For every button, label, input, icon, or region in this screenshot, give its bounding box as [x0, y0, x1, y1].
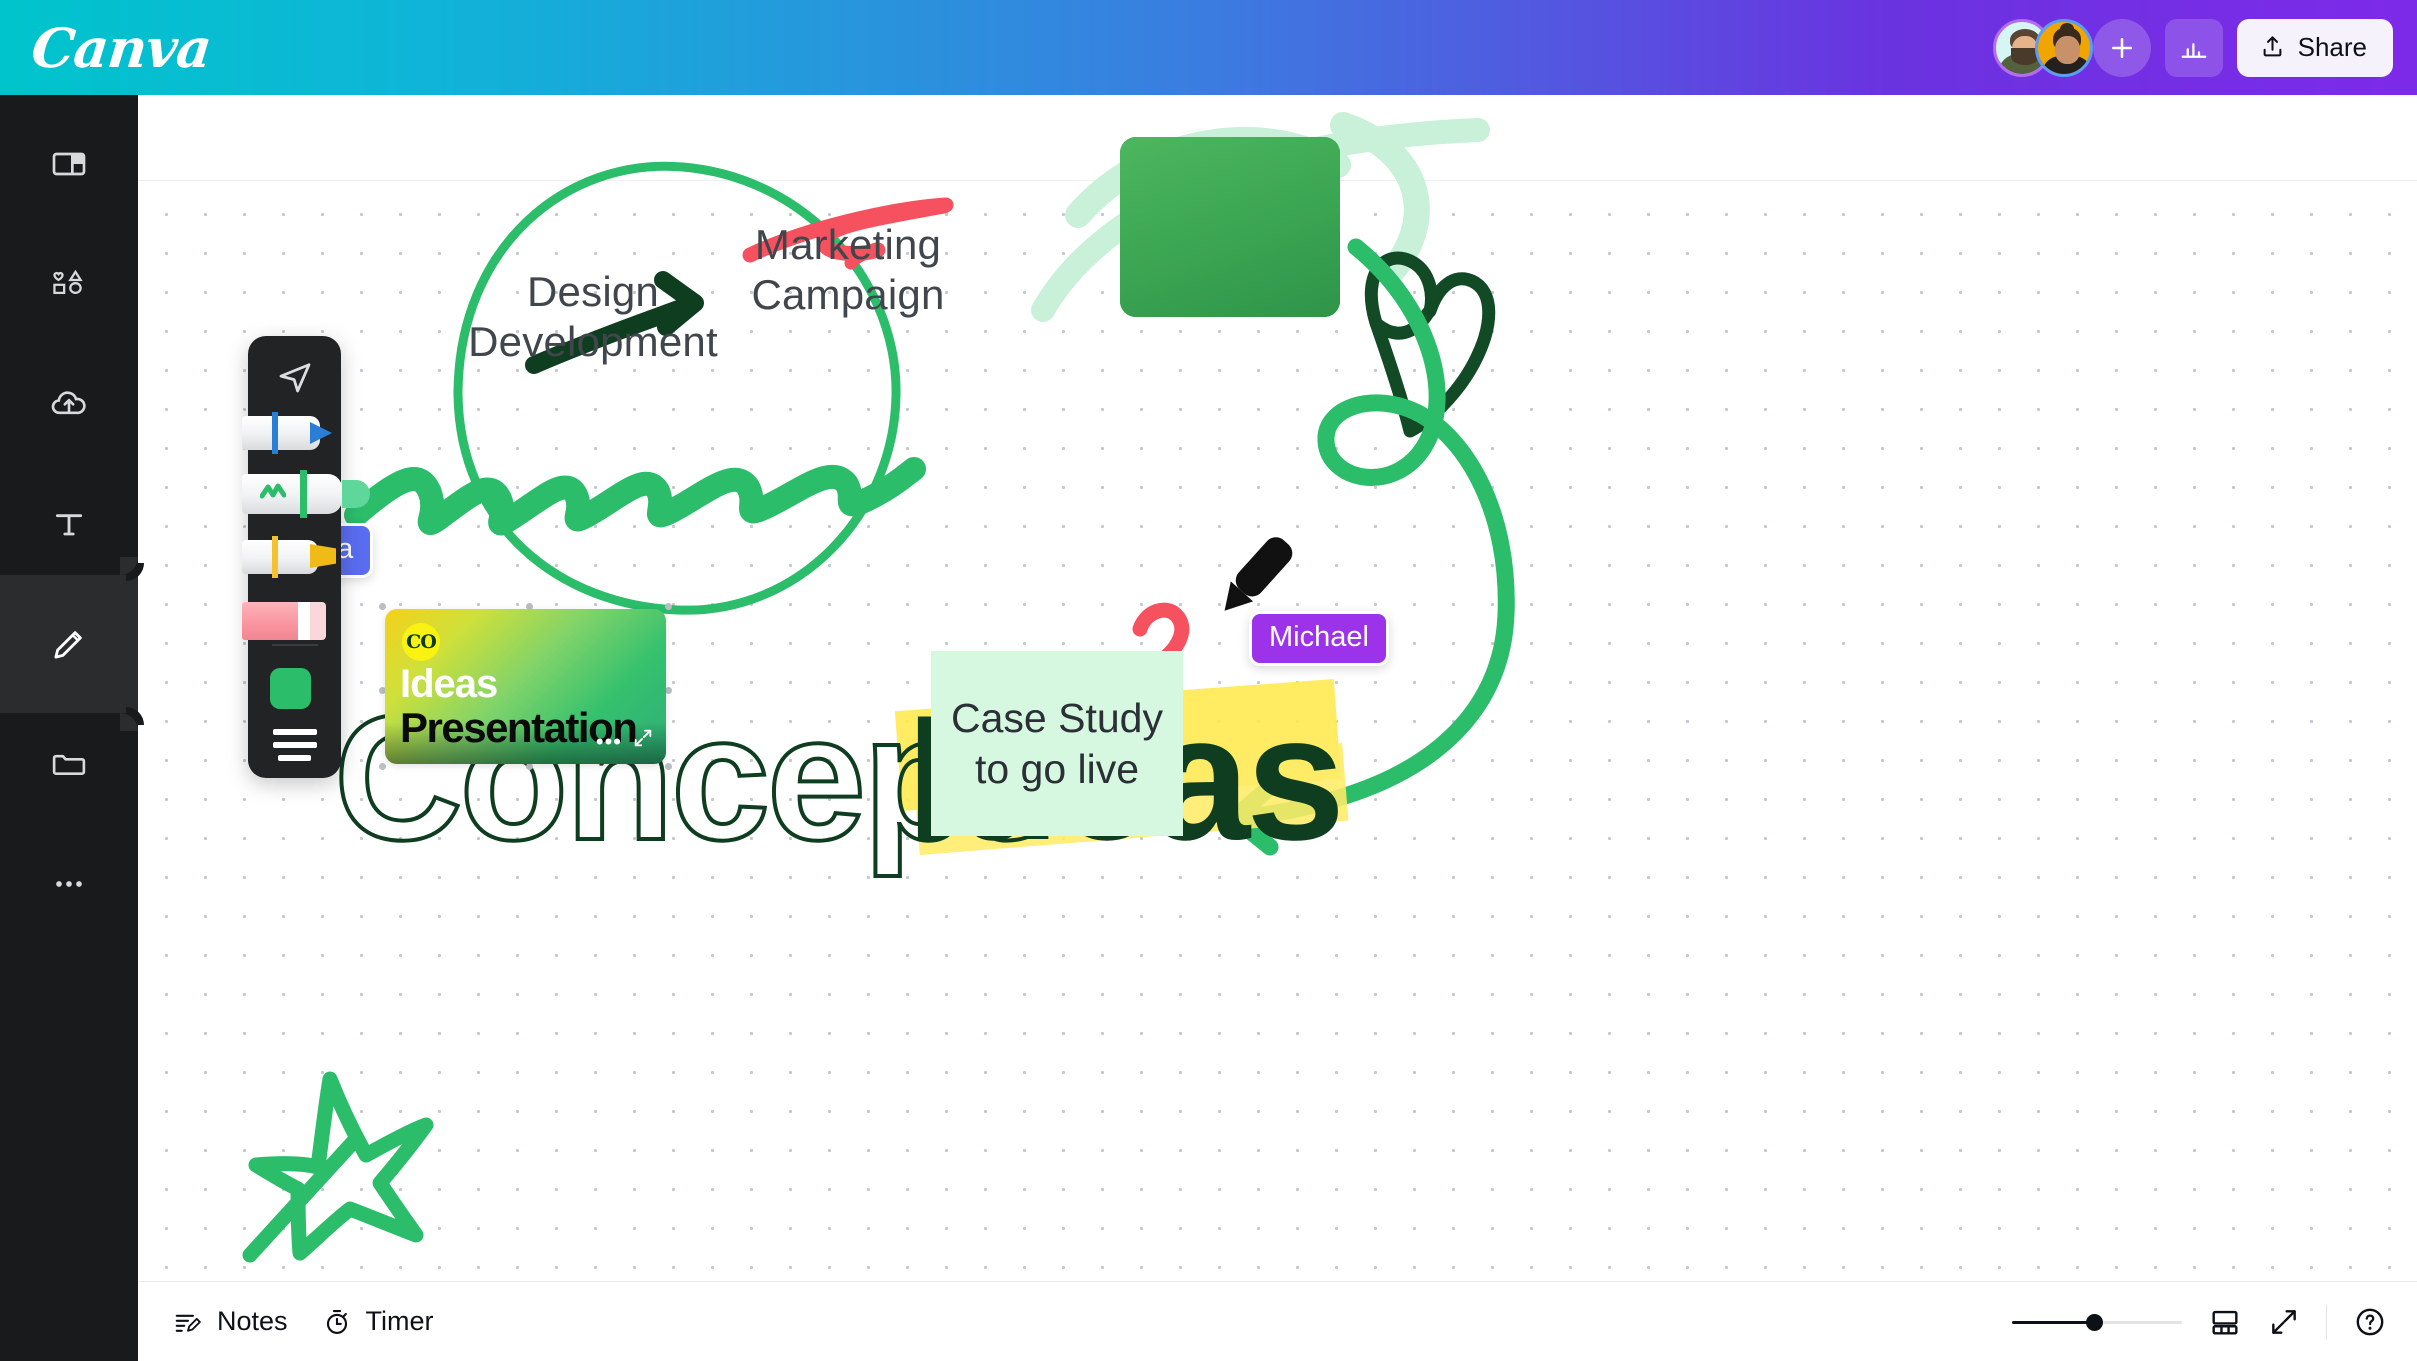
timer-label: Timer [366, 1306, 434, 1337]
bottom-bar: Notes Timer [138, 1281, 2417, 1361]
pencil-icon [48, 623, 90, 665]
whiteboard-canvas[interactable]: DesignDevelopment MarketingCampaign Conc… [138, 95, 2417, 1281]
tool-highlighter-yellow[interactable] [248, 528, 341, 594]
sidebar-item-design[interactable] [0, 95, 138, 233]
canvas-photo[interactable] [1120, 137, 1340, 317]
sticky-note-text: Case Studyto go live [951, 693, 1163, 793]
avatar-collaborator-2[interactable] [2035, 19, 2093, 77]
folder-icon [48, 743, 90, 785]
bar-chart-icon [2179, 33, 2209, 63]
sidebar-item-elements[interactable] [0, 215, 138, 353]
zoom-slider[interactable] [2012, 1312, 2182, 1332]
canva-logo[interactable]: Canva [29, 16, 214, 80]
ellipsis-icon [49, 864, 89, 904]
sidebar-item-more[interactable] [0, 815, 138, 953]
sidebar-item-uploads[interactable] [0, 335, 138, 473]
left-sidebar [0, 95, 138, 1361]
expand-arrows-icon [2268, 1306, 2300, 1338]
shapes-icon [48, 263, 90, 305]
presentation-more-icon[interactable]: ••• [596, 729, 622, 755]
notes-button[interactable]: Notes [173, 1306, 288, 1337]
share-button[interactable]: Share [2237, 19, 2393, 77]
presentation-expand-icon[interactable] [632, 727, 654, 754]
cursor-label-michael: Michael [1249, 611, 1389, 666]
canvas-text-marketing-campaign[interactable]: MarketingCampaign [678, 220, 1018, 319]
thickness-button[interactable] [273, 729, 317, 768]
tool-select-cursor[interactable] [248, 342, 341, 408]
bottom-right-actions [2012, 1305, 2387, 1339]
analytics-button[interactable] [2165, 19, 2223, 77]
co-badge: CO [402, 623, 440, 661]
text-t-icon [49, 504, 89, 544]
pages-grid-icon [2208, 1305, 2242, 1339]
zoom-slider-fill [2012, 1321, 2094, 1324]
layout-icon [49, 144, 89, 184]
upload-icon [2259, 34, 2286, 61]
tool-pen-blue[interactable] [248, 404, 341, 470]
question-circle-icon [2353, 1305, 2387, 1339]
pages-grid-button[interactable] [2208, 1305, 2242, 1339]
color-swatch-green[interactable] [270, 668, 311, 709]
presentation-card[interactable]: CO Ideas Presentation ••• [385, 609, 666, 764]
cloud-upload-icon [48, 383, 90, 425]
cursor-arrow-icon [274, 356, 316, 398]
presentation-title-line1: Ideas [400, 662, 497, 707]
share-label: Share [2298, 32, 2367, 63]
timer-button[interactable]: Timer [322, 1306, 434, 1337]
plus-icon [2107, 33, 2137, 63]
notes-pencil-icon [173, 1307, 203, 1337]
toolbar-divider [272, 644, 318, 646]
sticky-note-case-study[interactable]: Case Studyto go live [931, 651, 1183, 836]
stopwatch-icon [322, 1307, 352, 1337]
notes-label: Notes [217, 1306, 288, 1337]
draw-tool-panel [248, 336, 341, 778]
fullscreen-button[interactable] [2268, 1306, 2300, 1338]
help-button[interactable] [2353, 1305, 2387, 1339]
sidebar-item-draw[interactable] [0, 575, 138, 713]
canva-whiteboard-editor: Canva [0, 0, 2417, 1361]
topbar-actions: Share [1993, 19, 2393, 77]
sidebar-item-text[interactable] [0, 455, 138, 593]
zoom-slider-knob[interactable] [2086, 1314, 2103, 1331]
bottom-left-actions: Notes Timer [173, 1306, 434, 1337]
tool-marker-green[interactable] [248, 466, 341, 532]
top-bar: Canva [0, 0, 2417, 95]
sidebar-item-projects[interactable] [0, 695, 138, 833]
tool-eraser-pink[interactable] [248, 590, 341, 656]
add-collaborator-button[interactable] [2093, 19, 2151, 77]
marker-brand-mark [260, 483, 286, 503]
collaborator-avatars [1993, 19, 2093, 77]
bottom-divider [2326, 1305, 2327, 1339]
